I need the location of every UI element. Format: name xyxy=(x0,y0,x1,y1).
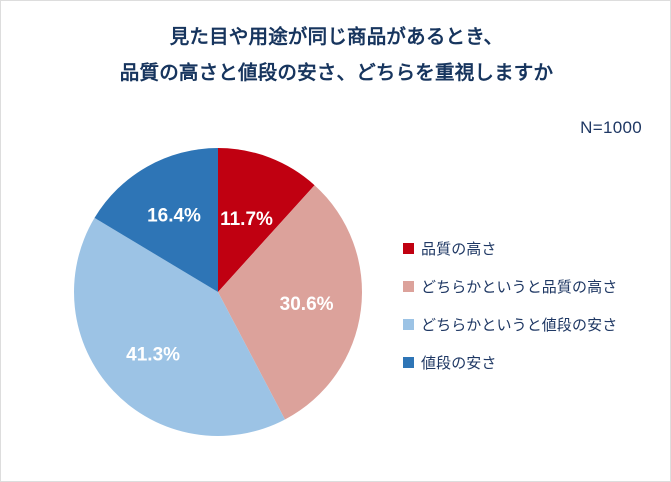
legend-item-label: 品質の高さ xyxy=(421,238,497,259)
legend-item-label: どちらかというと値段の安さ xyxy=(421,314,617,335)
pie-slice-label: 41.3% xyxy=(126,344,180,365)
legend-color-swatch xyxy=(403,319,414,330)
legend-color-swatch xyxy=(403,357,414,368)
pie-slice-label: 16.4% xyxy=(147,205,201,226)
legend-item-label: どちらかというと品質の高さ xyxy=(421,276,617,297)
legend-item[interactable]: どちらかというと品質の高さ xyxy=(403,267,658,305)
pie-chart-svg: 11.7%30.6%41.3%16.4% xyxy=(73,147,363,437)
legend-item[interactable]: 値段の安さ xyxy=(403,343,658,381)
chart-title: 見た目や用途が同じ商品があるとき、 品質の高さと値段の安さ、どちらを重視しますか xyxy=(1,19,671,91)
pie-chart: 11.7%30.6%41.3%16.4% xyxy=(73,147,363,437)
pie-slice-label: 11.7% xyxy=(220,209,273,230)
sample-size-note: N=1000 xyxy=(580,118,642,138)
pie-slice-group xyxy=(74,148,362,436)
chart-page: 見た目や用途が同じ商品があるとき、 品質の高さと値段の安さ、どちらを重視しますか… xyxy=(0,0,671,482)
legend: 品質の高さどちらかというと品質の高さどちらかというと値段の安さ値段の安さ xyxy=(403,229,658,381)
legend-item-label: 値段の安さ xyxy=(421,352,497,373)
pie-slice-label: 30.6% xyxy=(280,294,334,315)
legend-color-swatch xyxy=(403,243,414,254)
chart-title-line-1: 見た目や用途が同じ商品があるとき、 xyxy=(1,19,671,55)
legend-color-swatch xyxy=(403,281,414,292)
legend-item[interactable]: 品質の高さ xyxy=(403,229,658,267)
chart-title-line-2: 品質の高さと値段の安さ、どちらを重視しますか xyxy=(1,55,671,91)
legend-item[interactable]: どちらかというと値段の安さ xyxy=(403,305,658,343)
